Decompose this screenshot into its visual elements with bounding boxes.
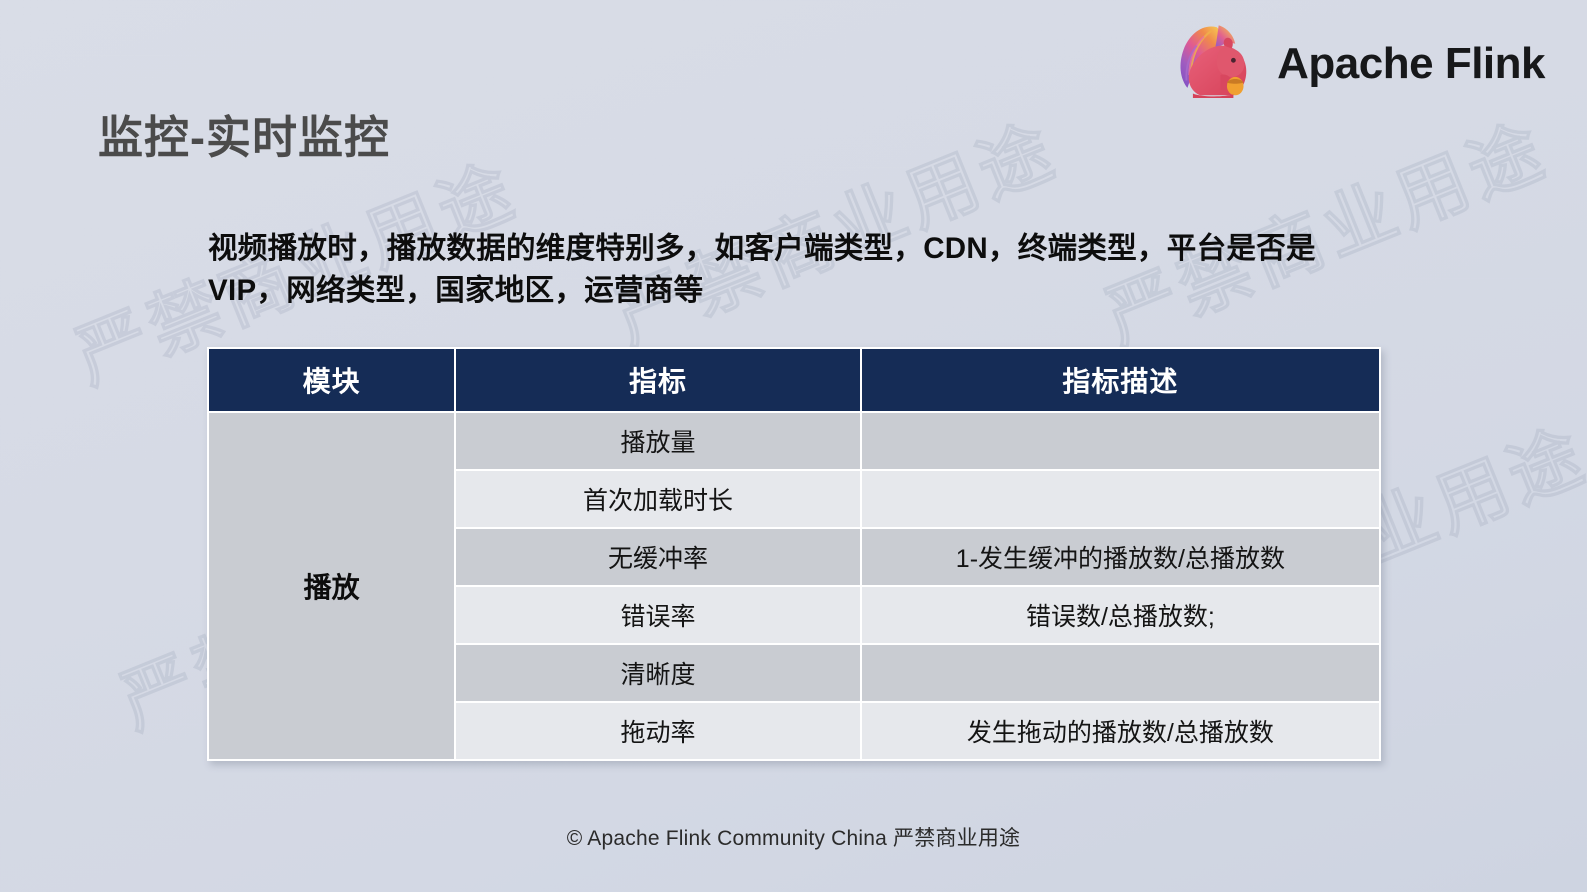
description-cell: 错误数/总播放数;: [862, 587, 1379, 643]
description-cell: 1-发生缓冲的播放数/总播放数: [862, 529, 1379, 585]
metrics-table: 模块 指标 指标描述 播放 播放量 首次加载时长 无缓冲率 1-发生缓冲的播放数…: [207, 347, 1381, 761]
metric-cell: 无缓冲率: [456, 529, 860, 585]
metric-cell: 错误率: [456, 587, 860, 643]
table-header: 模块 指标 指标描述: [209, 349, 1379, 411]
metric-cell: 播放量: [456, 413, 860, 469]
column-header-module: 模块: [209, 349, 454, 411]
metric-cell: 拖动率: [456, 703, 860, 759]
footer-copyright: © Apache Flink Community China 严禁商业用途: [0, 822, 1587, 852]
description-cell: [862, 471, 1379, 527]
description-cell: 发生拖动的播放数/总播放数: [862, 703, 1379, 759]
apache-flink-squirrel-icon: [1169, 18, 1261, 110]
table-header-row: 模块 指标 指标描述: [209, 349, 1379, 411]
table-body: 播放 播放量 首次加载时长 无缓冲率 1-发生缓冲的播放数/总播放数 错误率 错…: [209, 413, 1379, 759]
description-cell: [862, 413, 1379, 469]
body-paragraph: 视频播放时，播放数据的维度特别多，如客户端类型，CDN，终端类型，平台是否是VI…: [208, 228, 1368, 312]
module-cell-playback: 播放: [209, 413, 454, 759]
column-header-description: 指标描述: [862, 349, 1379, 411]
brand-wordmark: Apache Flink: [1277, 42, 1545, 86]
table-row: 播放 播放量: [209, 413, 1379, 469]
metric-cell: 清晰度: [456, 645, 860, 701]
brand-logo: Apache Flink: [1169, 18, 1545, 110]
page-title: 监控-实时监控: [98, 112, 390, 164]
column-header-metric: 指标: [456, 349, 860, 411]
metric-cell: 首次加载时长: [456, 471, 860, 527]
description-cell: [862, 645, 1379, 701]
